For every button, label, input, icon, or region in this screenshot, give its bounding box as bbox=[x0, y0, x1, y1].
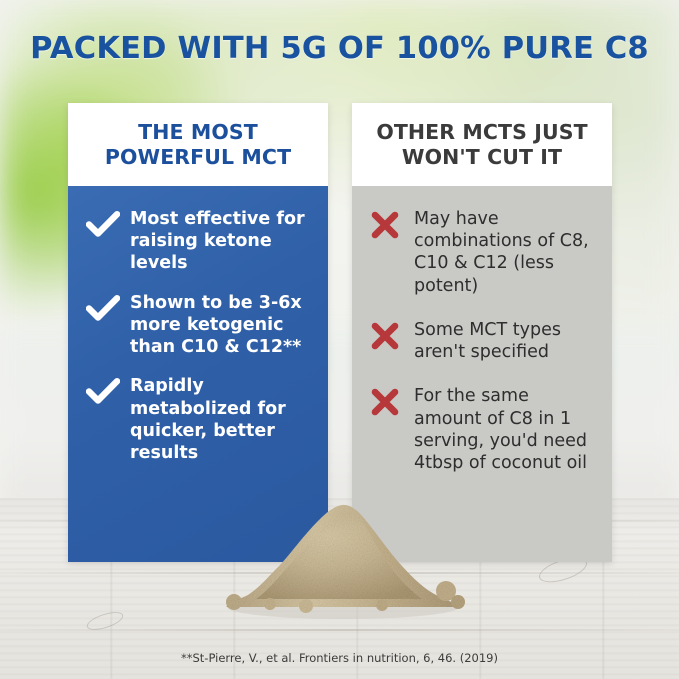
cross-icon bbox=[370, 319, 414, 352]
panel-title-left: THE MOST POWERFUL MCT bbox=[105, 120, 291, 169]
drawback-list-item-label: Some MCT types aren't specified bbox=[414, 319, 596, 363]
panel-header-right: OTHER MCTS JUST WON'T CUT IT bbox=[352, 103, 612, 186]
panel-title-right: OTHER MCTS JUST WON'T CUT IT bbox=[376, 120, 587, 169]
footnote-citation: **St-Pierre, V., et al. Frontiers in nut… bbox=[0, 651, 679, 665]
cross-icon bbox=[370, 385, 414, 418]
check-icon bbox=[86, 208, 130, 241]
benefit-list-item: Rapidly metabolized for quicker, better … bbox=[86, 375, 312, 464]
drawback-list-item: For the same amount of C8 in 1 serving, … bbox=[370, 385, 596, 474]
benefit-list-item-label: Rapidly metabolized for quicker, better … bbox=[130, 375, 312, 464]
benefit-list-item-label: Shown to be 3-6x more ketogenic than C10… bbox=[130, 292, 312, 359]
page-title: PACKED WITH 5G OF 100% PURE C8 bbox=[0, 31, 679, 66]
panel-title-left-line2: POWERFUL MCT bbox=[105, 145, 291, 170]
drawback-list-item: May have combinations of C8, C10 & C12 (… bbox=[370, 208, 596, 297]
drawback-list-item-label: For the same amount of C8 in 1 serving, … bbox=[414, 385, 596, 474]
cross-icon bbox=[370, 208, 414, 241]
panel-body-left: Most effective for raising ketone levels… bbox=[68, 186, 328, 562]
check-icon bbox=[86, 292, 130, 325]
panel-other-mcts: OTHER MCTS JUST WON'T CUT IT May have co… bbox=[352, 103, 612, 562]
panel-body-right: May have combinations of C8, C10 & C12 (… bbox=[352, 186, 612, 562]
drawback-list-item-label: May have combinations of C8, C10 & C12 (… bbox=[414, 208, 596, 297]
panel-title-right-line1: OTHER MCTS JUST bbox=[376, 120, 587, 145]
check-icon bbox=[86, 375, 130, 408]
wood-plank-seam bbox=[0, 629, 679, 631]
panel-header-left: THE MOST POWERFUL MCT bbox=[68, 103, 328, 186]
drawback-list-item: Some MCT types aren't specified bbox=[370, 319, 596, 363]
panel-title-right-line2: WON'T CUT IT bbox=[376, 145, 587, 170]
product-infographic: PACKED WITH 5G OF 100% PURE C8 THE MOST … bbox=[0, 0, 679, 679]
benefit-list-item-label: Most effective for raising ketone levels bbox=[130, 208, 312, 275]
benefit-list-item: Shown to be 3-6x more ketogenic than C10… bbox=[86, 292, 312, 359]
benefit-list-item: Most effective for raising ketone levels bbox=[86, 208, 312, 275]
panel-most-powerful-mct: THE MOST POWERFUL MCT Most effective for… bbox=[68, 103, 328, 562]
panel-title-left-line1: THE MOST bbox=[105, 120, 291, 145]
